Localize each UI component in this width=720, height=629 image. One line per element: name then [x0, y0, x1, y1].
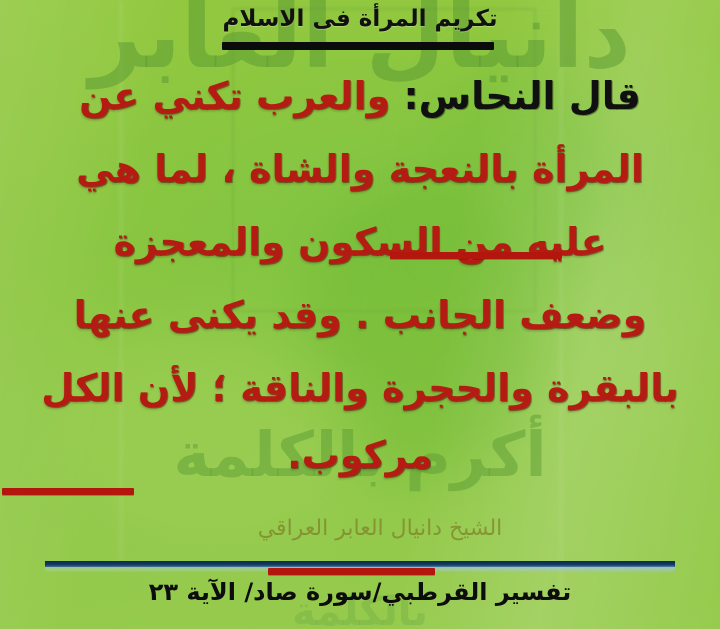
quote-line-4: وضعف الجانب . وقد يكنى عنها	[8, 279, 712, 352]
page-title: تكريم المرأة فى الاسلام	[222, 6, 497, 32]
title-underline-rule	[222, 42, 494, 50]
attribution-text: الشيخ دانيال العابر العراقي	[0, 516, 720, 541]
quote-line-5: بالبقرة والحجرة والناقة ؛ لأن الكل	[8, 352, 712, 425]
quote-line-1-speaker: قال النحاس:	[403, 74, 640, 118]
quote-line-6-text: مركوب.	[287, 433, 433, 477]
footer-source-reference: تفسير القرطبي/سورة صاد/ الآية ٢٣	[0, 578, 720, 606]
quote-body: قال النحاس: والعرب تكني عن المرأة بالنعج…	[8, 60, 712, 485]
quote-line-1: قال النحاس: والعرب تكني عن	[8, 60, 712, 133]
quote-line-2-text: المرأة بالنعجة والشاة ، لما هي	[76, 147, 644, 191]
quote-line-4-text: وضعف الجانب . وقد يكنى عنها	[74, 293, 647, 337]
page-title-container: تكريم المرأة فى الاسلام	[0, 6, 720, 32]
quote-line-5-text: بالبقرة والحجرة والناقة ؛ لأن الكل	[41, 366, 679, 410]
poster-canvas: دانيال العابر أكرم بالكلمة بالكلمة تكريم…	[0, 0, 720, 629]
quote-line-3: عليه من السكون والمعجزة	[8, 206, 712, 279]
emphasis-underline-line-6	[268, 568, 435, 575]
quote-line-2: المرأة بالنعجة والشاة ، لما هي	[8, 133, 712, 206]
quote-line-6: مركوب.	[8, 425, 712, 485]
emphasis-underline-line-2	[390, 252, 562, 259]
poster-content: تكريم المرأة فى الاسلام قال النحاس: والع…	[0, 0, 720, 629]
quote-line-1-rest: والعرب تكني عن	[79, 74, 403, 118]
emphasis-underline-line-5	[2, 488, 134, 495]
